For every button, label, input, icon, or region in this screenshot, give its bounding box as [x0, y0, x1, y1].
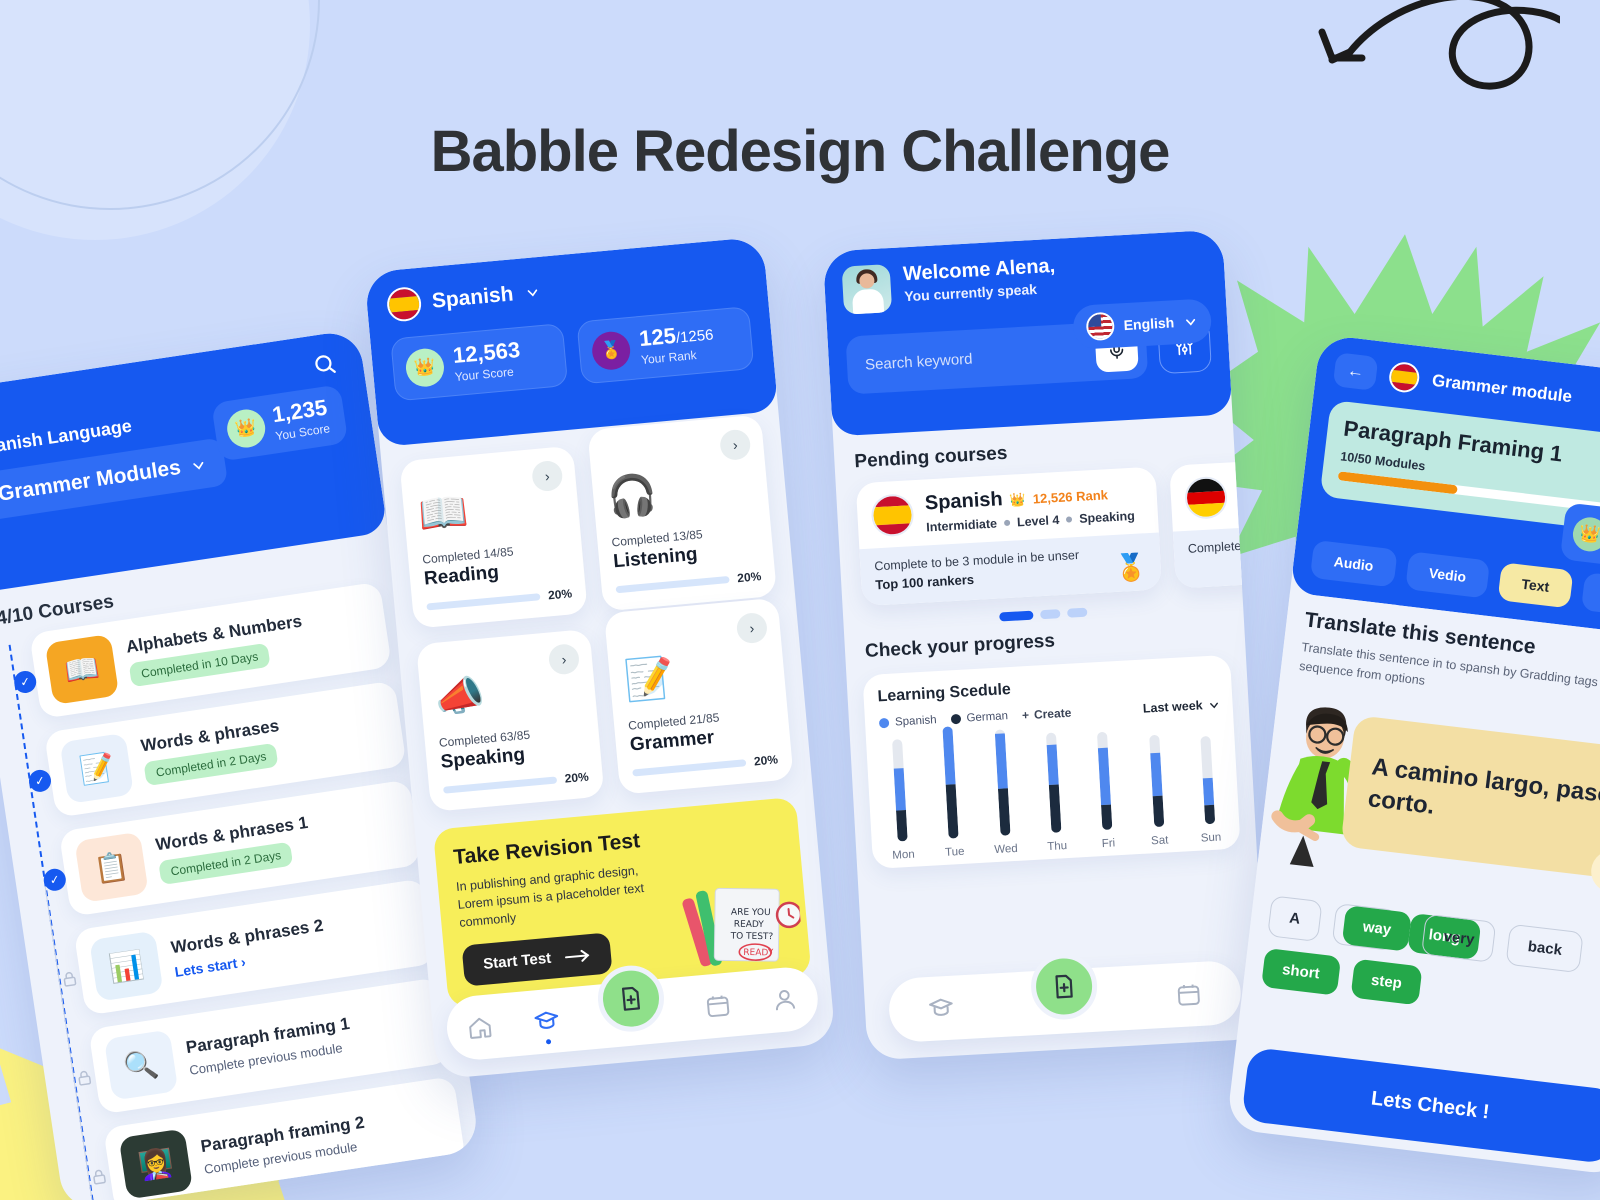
- course-level-value: Level 4: [1017, 513, 1060, 529]
- legend-item-spanish: Spanish: [879, 714, 937, 729]
- period-dropdown[interactable]: Last week: [1143, 697, 1221, 715]
- language-label: Spanish: [431, 282, 515, 313]
- active-indicator-dot: [545, 1039, 550, 1044]
- phone4-body: Translate this sentence Translate this s…: [1243, 592, 1600, 1031]
- rank-value: 125: [638, 323, 677, 351]
- score-value: 12,563: [452, 339, 521, 367]
- create-button[interactable]: + Create: [1022, 706, 1072, 723]
- chevron-down-icon: [1207, 698, 1221, 712]
- learning-schedule-chart: Learning Scedule Spanish German + Create…: [862, 655, 1240, 869]
- crown-icon: 👑: [224, 406, 267, 449]
- arrow-right-icon: [564, 948, 591, 964]
- spain-flag-icon: [386, 286, 423, 323]
- pagination-dot[interactable]: [1067, 608, 1087, 618]
- skill-card-grammer[interactable]: › 📝 Completed 21/85 Grammer 20%: [604, 598, 794, 795]
- first-place-medal-icon: 🏅: [1114, 551, 1148, 584]
- spain-flag-icon: [870, 493, 914, 537]
- lock-icon: [74, 1067, 94, 1087]
- chevron-right-icon[interactable]: ›: [736, 612, 769, 645]
- lets-check-button[interactable]: Lets Check !: [1241, 1047, 1600, 1165]
- skill-card-reading[interactable]: › 📖 Completed 14/85 Reading 20%: [399, 446, 588, 629]
- progress-percent: 20%: [564, 770, 589, 786]
- crown-icon: 👑: [404, 347, 445, 388]
- phone3-header: Welcome Alena, You currently speak Engli…: [823, 229, 1233, 436]
- pagination-dot[interactable]: [1040, 609, 1060, 619]
- course-thumbnail: 📖: [45, 634, 119, 705]
- word-chip[interactable]: back: [1506, 923, 1585, 972]
- sentence-text: A camino largo, paso corto.: [1366, 751, 1600, 845]
- progress-bar: [443, 776, 557, 793]
- search-placeholder: Search keyword: [865, 344, 1087, 373]
- chart-bar-group: Fri: [1089, 731, 1122, 850]
- svg-text:ARE YOU: ARE YOU: [731, 908, 771, 919]
- graduation-cap-icon[interactable]: [927, 995, 954, 1022]
- chart-bar-group: Sun: [1192, 735, 1224, 844]
- word-chip[interactable]: way: [1342, 905, 1413, 952]
- sentence-area: A camino largo, paso corto.: [1276, 691, 1600, 908]
- legend-item-german: German: [950, 710, 1008, 725]
- pending-courses-list[interactable]: Spanish 👑 12,526 Rank Intermidiate Level…: [836, 462, 1242, 607]
- poster-stage: Babble Redesign Challenge Spanish Langua…: [0, 0, 1600, 1200]
- skill-grid: › 📖 Completed 14/85 Reading 20% › 🎧 Comp…: [380, 411, 812, 814]
- course-thumbnail: 🔍: [104, 1030, 178, 1101]
- chevron-down-icon: [189, 455, 208, 474]
- phone-screen-home: Welcome Alena, You currently speak Engli…: [823, 229, 1268, 1060]
- headphones-icon: 🎧: [605, 462, 755, 522]
- chevron-down-icon: [524, 284, 541, 301]
- us-flag-icon: [1086, 312, 1116, 342]
- chart-bar-group: Sat: [1141, 734, 1173, 847]
- progress-bar: [616, 575, 730, 592]
- chart-bar-group: Tue: [935, 726, 968, 859]
- separator-dot: [1004, 520, 1010, 526]
- add-document-icon[interactable]: [1029, 952, 1099, 1022]
- score-badge: 👑 1,235 You Score: [211, 384, 348, 462]
- chart-bar-group: Wed: [986, 729, 1019, 856]
- start-test-button[interactable]: Start Test: [462, 933, 613, 987]
- crown-icon: 👑: [1009, 492, 1026, 509]
- calendar-icon[interactable]: [1175, 981, 1202, 1008]
- progress-percent: 20%: [753, 752, 778, 768]
- lesson-progress-card: Paragraph Framing 1 10/50 Modules 👑 1,23…: [1320, 400, 1600, 539]
- word-chip[interactable]: A: [1267, 895, 1322, 942]
- pagination-dot-active[interactable]: [999, 611, 1033, 622]
- stats-row: 👑 12,563 Your Score 🏅 125/1256 Your Rank: [390, 306, 754, 401]
- course-thumbnail: 📊: [89, 931, 163, 1002]
- revision-description: In publishing and graphic design, Lorem …: [455, 859, 670, 932]
- course-skill: Speaking: [1079, 509, 1135, 526]
- page-title: Babble Redesign Challenge: [0, 118, 1600, 185]
- progress-bar: [632, 759, 746, 776]
- back-arrow-icon[interactable]: ←: [1333, 352, 1379, 391]
- chevron-right-icon[interactable]: ›: [719, 429, 752, 462]
- word-chip-list: A get long way very back short step: [1261, 895, 1600, 1029]
- rank-card: 🏅 125/1256 Your Rank: [576, 306, 754, 384]
- revision-title: Take Revision Test: [452, 816, 783, 870]
- module-title: Grammer module: [1431, 371, 1573, 408]
- language-select-dropdown[interactable]: English: [1073, 298, 1213, 350]
- chart-bar-group: Thu: [1038, 732, 1071, 853]
- pending-course-card[interactable]: Spanish 👑 12,526 Rank Intermidiate Level…: [856, 467, 1162, 607]
- profile-icon[interactable]: [770, 986, 798, 1014]
- word-chip[interactable]: short: [1261, 947, 1341, 995]
- chevron-down-icon: [1183, 313, 1199, 329]
- tab-audio[interactable]: Audio: [1310, 540, 1398, 588]
- spain-flag-icon: [1388, 361, 1421, 394]
- language-select-label: English: [1123, 314, 1174, 333]
- home-icon[interactable]: [466, 1013, 494, 1041]
- word-chip[interactable]: very: [1421, 913, 1496, 962]
- medal-icon: 🏅: [591, 330, 632, 371]
- phone-screen-skills: Spanish 👑 12,563 Your Score 🏅 125/1256 Y…: [364, 237, 836, 1080]
- score-card: 👑 12,563 Your Score: [390, 323, 568, 401]
- timeline-check-icon: ✓: [42, 867, 67, 892]
- calendar-icon[interactable]: [704, 992, 732, 1020]
- avatar[interactable]: [842, 264, 893, 315]
- start-test-label: Start Test: [483, 950, 552, 973]
- course-thumbnail: 📋: [74, 832, 148, 903]
- speaker-icon[interactable]: [1589, 848, 1600, 895]
- phone2-header: Spanish 👑 12,563 Your Score 🏅 125/1256 Y…: [364, 237, 778, 448]
- german-flag-icon: [1184, 476, 1228, 520]
- note-pencil-icon: 📝: [622, 645, 772, 705]
- skill-card-listening[interactable]: › 🎧 Completed 13/85 Listening 20%: [587, 414, 777, 611]
- chart-bars: Mon Tue Wed Thu Fri Sat Sun: [880, 723, 1228, 862]
- rank-total: /1256: [675, 326, 714, 346]
- crown-icon: 👑: [1571, 515, 1600, 553]
- progress-percent: 20%: [547, 586, 572, 602]
- chart-bar-group: Mon: [884, 739, 917, 862]
- tab-text[interactable]: Text: [1498, 562, 1574, 608]
- search-icon[interactable]: [311, 351, 339, 383]
- course-level-label: Intermidiate: [926, 517, 998, 535]
- pending-course-rank: 12,526 Rank: [1032, 487, 1108, 506]
- score-badge: 👑 1,235 You Score: [1560, 502, 1600, 573]
- svg-text:READY: READY: [743, 948, 774, 958]
- revision-illustration: ARE YOU READY TO TEST? READY: [677, 870, 806, 980]
- tab-quiz[interactable]: Quiz: [1581, 572, 1600, 619]
- skill-card-speaking[interactable]: › 📣 Completed 63/85 Speaking 20%: [416, 629, 605, 812]
- separator-dot: [1066, 516, 1072, 522]
- bottom-navigation: [887, 960, 1242, 1044]
- word-chip[interactable]: step: [1350, 958, 1423, 1005]
- svg-text:TO TEST?: TO TEST?: [730, 932, 774, 943]
- tab-vedio[interactable]: Vedio: [1405, 551, 1490, 598]
- timeline-check-icon: ✓: [27, 768, 52, 793]
- grammar-modules-label: Grammer Modules: [0, 456, 182, 507]
- progress-bar: [426, 593, 540, 610]
- progress-percent: 20%: [737, 569, 762, 585]
- pending-course-name: Spanish: [924, 488, 1003, 515]
- svg-text:READY: READY: [734, 920, 765, 930]
- graduation-cap-icon[interactable]: [532, 1007, 560, 1035]
- lock-icon: [89, 1166, 109, 1186]
- course-thumbnail: 👩‍🏫: [119, 1128, 193, 1199]
- timeline-check-icon: ✓: [13, 669, 38, 694]
- lock-icon: [59, 968, 79, 988]
- course-thumbnail: 📝: [60, 733, 134, 804]
- phone4-header: ← Grammer module Paragraph Framing 1 10/…: [1290, 334, 1600, 640]
